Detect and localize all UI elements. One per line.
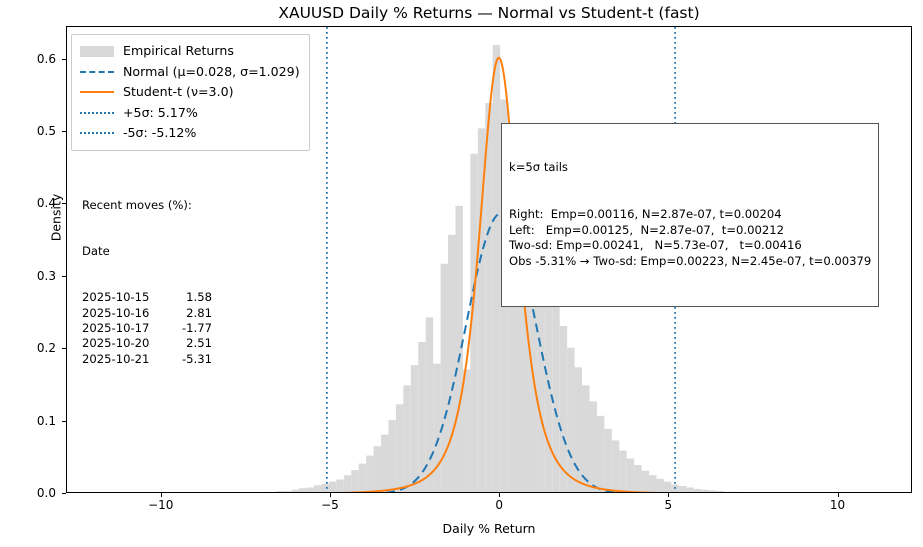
histogram-bar	[336, 480, 343, 493]
histogram-bar	[731, 492, 738, 493]
histogram-bar	[329, 482, 336, 493]
histogram-bar	[575, 367, 582, 493]
y-tick-label: 0.0	[8, 487, 56, 499]
histogram-bar	[716, 491, 723, 493]
legend-swatch-solid	[80, 85, 114, 99]
legend-patch	[80, 46, 114, 57]
y-tick-mark	[62, 348, 66, 349]
histogram-bar	[679, 486, 686, 493]
y-tick-label: 0.3	[8, 270, 56, 282]
legend-line	[80, 71, 114, 73]
x-tick-label: −10	[131, 499, 191, 511]
x-tick-mark	[838, 493, 839, 497]
histogram-bar	[299, 488, 306, 493]
histogram-bar	[433, 364, 440, 493]
recent-moves-date: 2025-10-16	[82, 306, 166, 321]
annotation-lines: Right: Emp=0.00116, N=2.87e-07, t=0.0020…	[509, 207, 871, 269]
x-tick-label: −5	[300, 499, 360, 511]
y-tick-mark	[62, 421, 66, 422]
histogram-bar	[351, 470, 358, 493]
annotation-line: Left: Emp=0.00125, N=2.87e-07, t=0.00212	[509, 223, 871, 239]
y-tick-mark	[62, 493, 66, 494]
legend-item[interactable]: Normal (μ=0.028, σ=1.029)	[80, 62, 300, 83]
histogram-bar	[374, 446, 381, 493]
x-tick-label: 0	[469, 499, 529, 511]
y-tick-mark	[62, 276, 66, 277]
histogram-bar	[366, 456, 373, 493]
histogram-bar	[284, 491, 291, 493]
y-tick-mark	[62, 203, 66, 204]
x-tick-mark	[161, 493, 162, 497]
histogram-bar	[314, 485, 321, 493]
legend-line	[80, 91, 114, 93]
histogram-bar	[597, 416, 604, 493]
recent-moves-row: 2025-10-17-1.77	[82, 321, 212, 336]
histogram-bar	[321, 484, 328, 493]
histogram-bar	[292, 490, 299, 493]
recent-moves-value: 2.81	[166, 306, 212, 321]
x-tick-label: 10	[808, 499, 868, 511]
histogram-bar	[656, 479, 663, 493]
legend-line	[80, 132, 114, 134]
histogram-bar	[344, 475, 351, 493]
x-axis-label: Daily % Return	[66, 521, 912, 536]
histogram-bar	[627, 459, 634, 493]
histogram-bar	[604, 429, 611, 493]
legend-label: +5σ: 5.17%	[123, 103, 198, 124]
legend-label: Normal (μ=0.028, σ=1.029)	[123, 62, 300, 83]
histogram-bar	[723, 492, 730, 493]
histogram-bar	[612, 440, 619, 493]
recent-moves-date: 2025-10-21	[82, 352, 166, 367]
legend-label: -5σ: -5.12%	[123, 123, 196, 144]
histogram-bar	[463, 369, 470, 493]
legend-item[interactable]: +5σ: 5.17%	[80, 103, 300, 124]
recent-moves-value: -5.31	[166, 352, 212, 367]
histogram-bar	[589, 401, 596, 493]
legend-swatch-dashed	[80, 65, 114, 79]
recent-moves-row: 2025-10-151.58	[82, 290, 212, 305]
x-tick-mark	[330, 493, 331, 497]
y-tick-label: 0.6	[8, 53, 56, 65]
annotation-line: Obs -5.31% → Two-sd: Emp=0.00223, N=2.45…	[509, 254, 871, 270]
chart-title: XAUUSD Daily % Returns — Normal vs Stude…	[66, 4, 912, 22]
histogram-bar	[619, 451, 626, 493]
recent-moves-row: 2025-10-162.81	[82, 306, 212, 321]
x-tick-label: 5	[638, 499, 698, 511]
histogram-bar	[664, 482, 671, 493]
histogram-bar	[359, 464, 366, 493]
histogram-bar	[686, 487, 693, 493]
recent-moves-rows: 2025-10-151.582025-10-162.812025-10-17-1…	[82, 290, 212, 367]
histogram-bar	[269, 492, 276, 493]
recent-moves-value: 1.58	[166, 290, 212, 305]
annotation-line: Right: Emp=0.00116, N=2.87e-07, t=0.0020…	[509, 207, 871, 223]
recent-moves-value: 2.51	[166, 336, 212, 351]
y-tick-label: 0.5	[8, 125, 56, 137]
histogram-bar	[388, 420, 395, 493]
recent-moves-date: 2025-10-15	[82, 290, 166, 305]
tail-statistics-annotation: k=5σ tails Right: Emp=0.00116, N=2.87e-0…	[501, 123, 879, 307]
legend-item[interactable]: Student-t (ν=3.0)	[80, 82, 300, 103]
histogram-bar	[701, 490, 708, 493]
legend-line	[80, 112, 114, 114]
histogram-bar	[411, 365, 418, 493]
y-tick-label: 0.2	[8, 342, 56, 354]
recent-moves-row: 2025-10-202.51	[82, 336, 212, 351]
recent-moves-date: 2025-10-17	[82, 321, 166, 336]
recent-moves-column-header: Date	[82, 244, 212, 259]
y-tick-label: 0.4	[8, 197, 56, 209]
chart-figure: XAUUSD Daily % Returns — Normal vs Stude…	[0, 0, 923, 547]
legend-label: Empirical Returns	[123, 41, 234, 62]
y-tick-mark	[62, 131, 66, 132]
legend-swatch-dotted	[80, 106, 114, 120]
legend-swatch-patch	[80, 44, 114, 58]
histogram-bar	[634, 465, 641, 493]
histogram-bar	[709, 490, 716, 493]
histogram-bar	[694, 489, 701, 493]
histogram-bar	[448, 235, 455, 493]
legend-item[interactable]: -5σ: -5.12%	[80, 123, 300, 144]
chart-legend: Empirical ReturnsNormal (μ=0.028, σ=1.02…	[71, 34, 310, 151]
recent-moves-value: -1.77	[166, 321, 212, 336]
histogram-bar	[277, 491, 284, 493]
histogram-bar	[649, 475, 656, 493]
recent-moves-row: 2025-10-21-5.31	[82, 352, 212, 367]
recent-moves-heading: Recent moves (%):	[82, 198, 212, 213]
recent-moves-table: Recent moves (%): Date 2025-10-151.58202…	[82, 167, 212, 398]
histogram-bar	[396, 404, 403, 493]
legend-item[interactable]: Empirical Returns	[80, 41, 300, 62]
legend-swatch-dotted	[80, 126, 114, 140]
x-tick-mark	[499, 493, 500, 497]
histogram-bar	[493, 45, 500, 493]
y-axis-label: Density	[49, 158, 64, 278]
histogram-bar	[642, 471, 649, 493]
recent-moves-date: 2025-10-20	[82, 336, 166, 351]
legend-label: Student-t (ν=3.0)	[123, 82, 234, 103]
histogram-bar	[567, 348, 574, 493]
histogram-bar	[307, 487, 314, 493]
annotation-heading: k=5σ tails	[509, 160, 871, 176]
x-tick-mark	[668, 493, 669, 497]
annotation-line: Two-sd: Emp=0.00241, N=5.73e-07, t=0.004…	[509, 238, 871, 254]
histogram-bar	[485, 103, 492, 493]
histogram-bar	[455, 206, 462, 493]
histogram-bar	[381, 435, 388, 493]
y-tick-label: 0.1	[8, 415, 56, 427]
y-tick-mark	[62, 59, 66, 60]
histogram-bar	[403, 385, 410, 493]
